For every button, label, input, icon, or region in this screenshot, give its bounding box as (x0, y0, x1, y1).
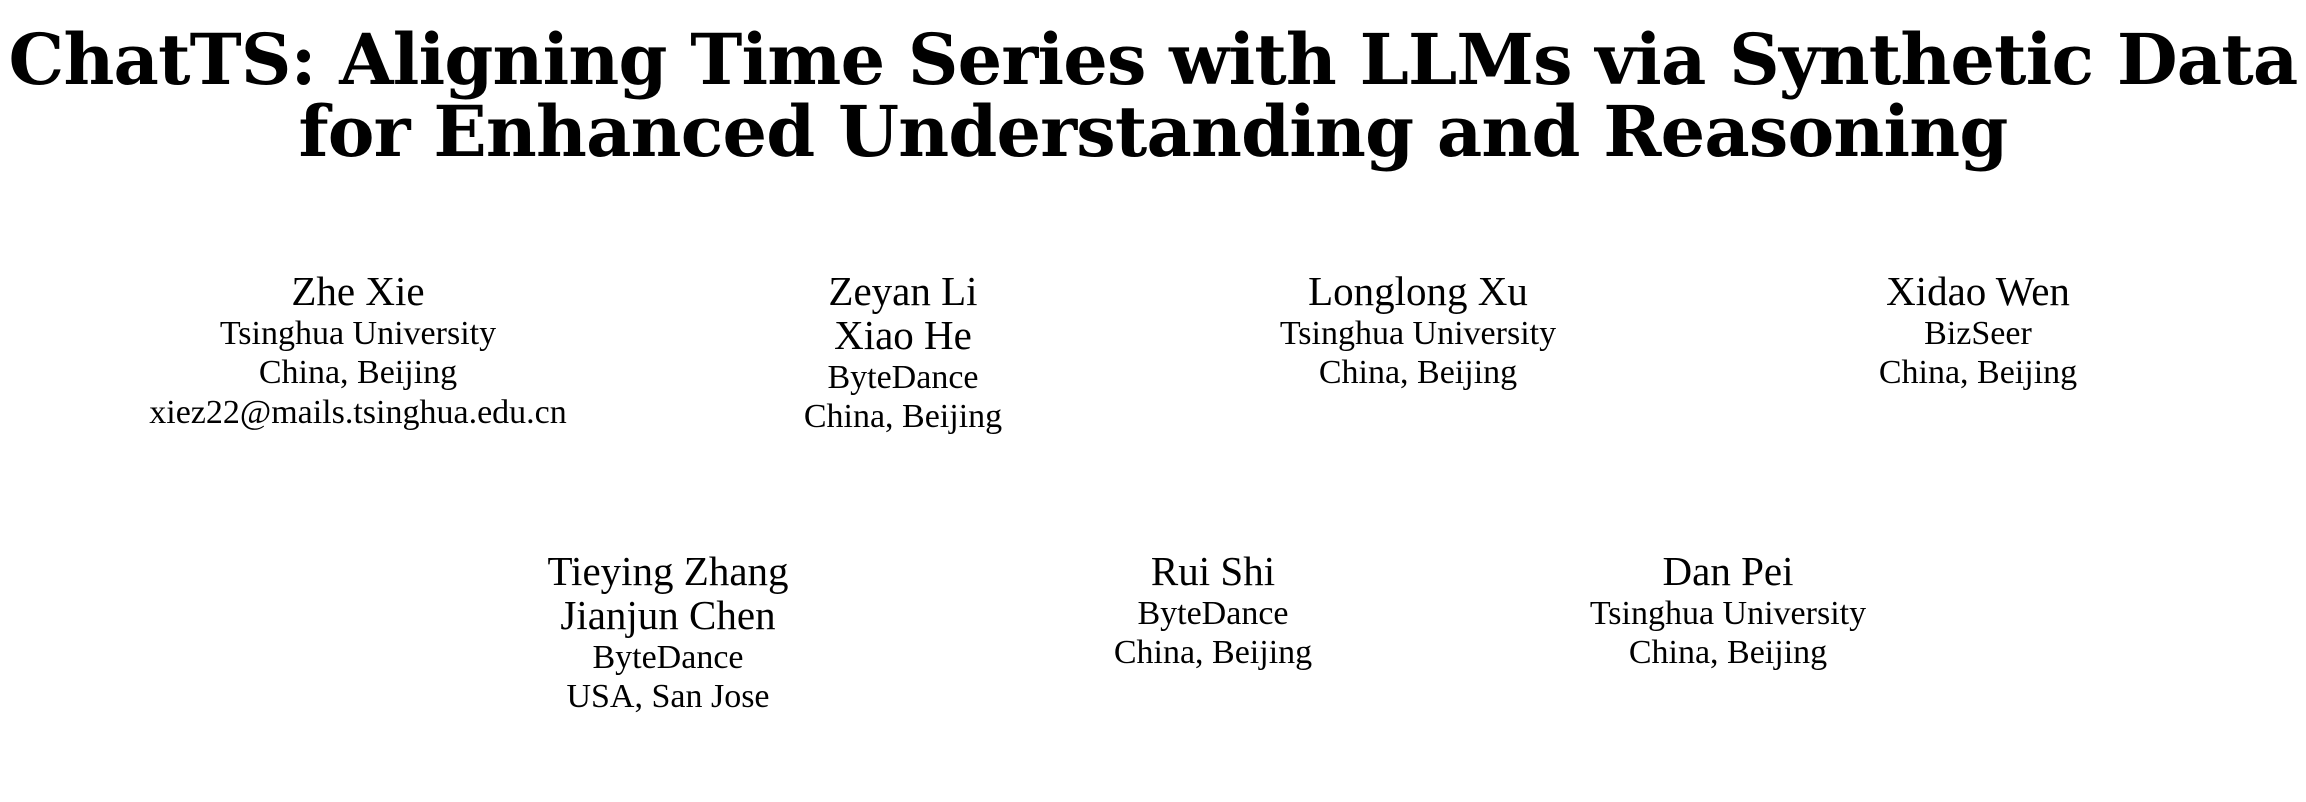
author-row-2: Tieying Zhang Jianjun Chen ByteDance USA… (0, 550, 2306, 717)
author-name: Longlong Xu (1148, 270, 1688, 314)
author-block-rui-shi: Rui Shi ByteDance China, Beijing (978, 550, 1448, 673)
author-location: China, Beijing (1458, 633, 1998, 672)
author-affiliation: ByteDance (988, 594, 1438, 633)
author-name: Zeyan Li (678, 270, 1128, 314)
author-name: Jianjun Chen (368, 594, 968, 638)
author-location: China, Beijing (1708, 353, 2248, 392)
author-name: Dan Pei (1458, 550, 1998, 594)
author-name: Xidao Wen (1708, 270, 2248, 314)
author-location: China, Beijing (678, 397, 1128, 436)
author-block-tieying-zhang-jianjun-chen: Tieying Zhang Jianjun Chen ByteDance USA… (358, 550, 978, 717)
paper-header-page: ChatTS: Aligning Time Series with LLMs v… (0, 0, 2306, 802)
author-name: Rui Shi (988, 550, 1438, 594)
author-name: Tieying Zhang (368, 550, 968, 594)
author-location: China, Beijing (58, 353, 658, 392)
author-affiliation: ByteDance (678, 358, 1128, 397)
page-title: ChatTS: Aligning Time Series with LLMs v… (0, 24, 2306, 168)
author-block-zeyan-li-xiao-he: Zeyan Li Xiao He ByteDance China, Beijin… (668, 270, 1138, 437)
author-block-longlong-xu: Longlong Xu Tsinghua University China, B… (1138, 270, 1698, 393)
title-line-1: ChatTS: Aligning Time Series with LLMs v… (0, 24, 2306, 96)
author-block-zhe-xie: Zhe Xie Tsinghua University China, Beiji… (48, 270, 668, 432)
author-name: Xiao He (678, 314, 1128, 358)
author-affiliation: Tsinghua University (1458, 594, 1998, 633)
author-email[interactable]: xiez22@mails.tsinghua.edu.cn (58, 393, 658, 432)
author-affiliation: Tsinghua University (58, 314, 658, 353)
author-name: Zhe Xie (58, 270, 658, 314)
author-affiliation: ByteDance (368, 638, 968, 677)
author-block-dan-pei: Dan Pei Tsinghua University China, Beiji… (1448, 550, 2008, 673)
title-line-2: for Enhanced Understanding and Reasoning (0, 96, 2306, 168)
author-location: China, Beijing (988, 633, 1438, 672)
author-affiliation: BizSeer (1708, 314, 2248, 353)
author-block-xidao-wen: Xidao Wen BizSeer China, Beijing (1698, 270, 2258, 393)
author-row-1: Zhe Xie Tsinghua University China, Beiji… (0, 270, 2306, 437)
author-location: USA, San Jose (368, 677, 968, 716)
author-affiliation: Tsinghua University (1148, 314, 1688, 353)
author-location: China, Beijing (1148, 353, 1688, 392)
